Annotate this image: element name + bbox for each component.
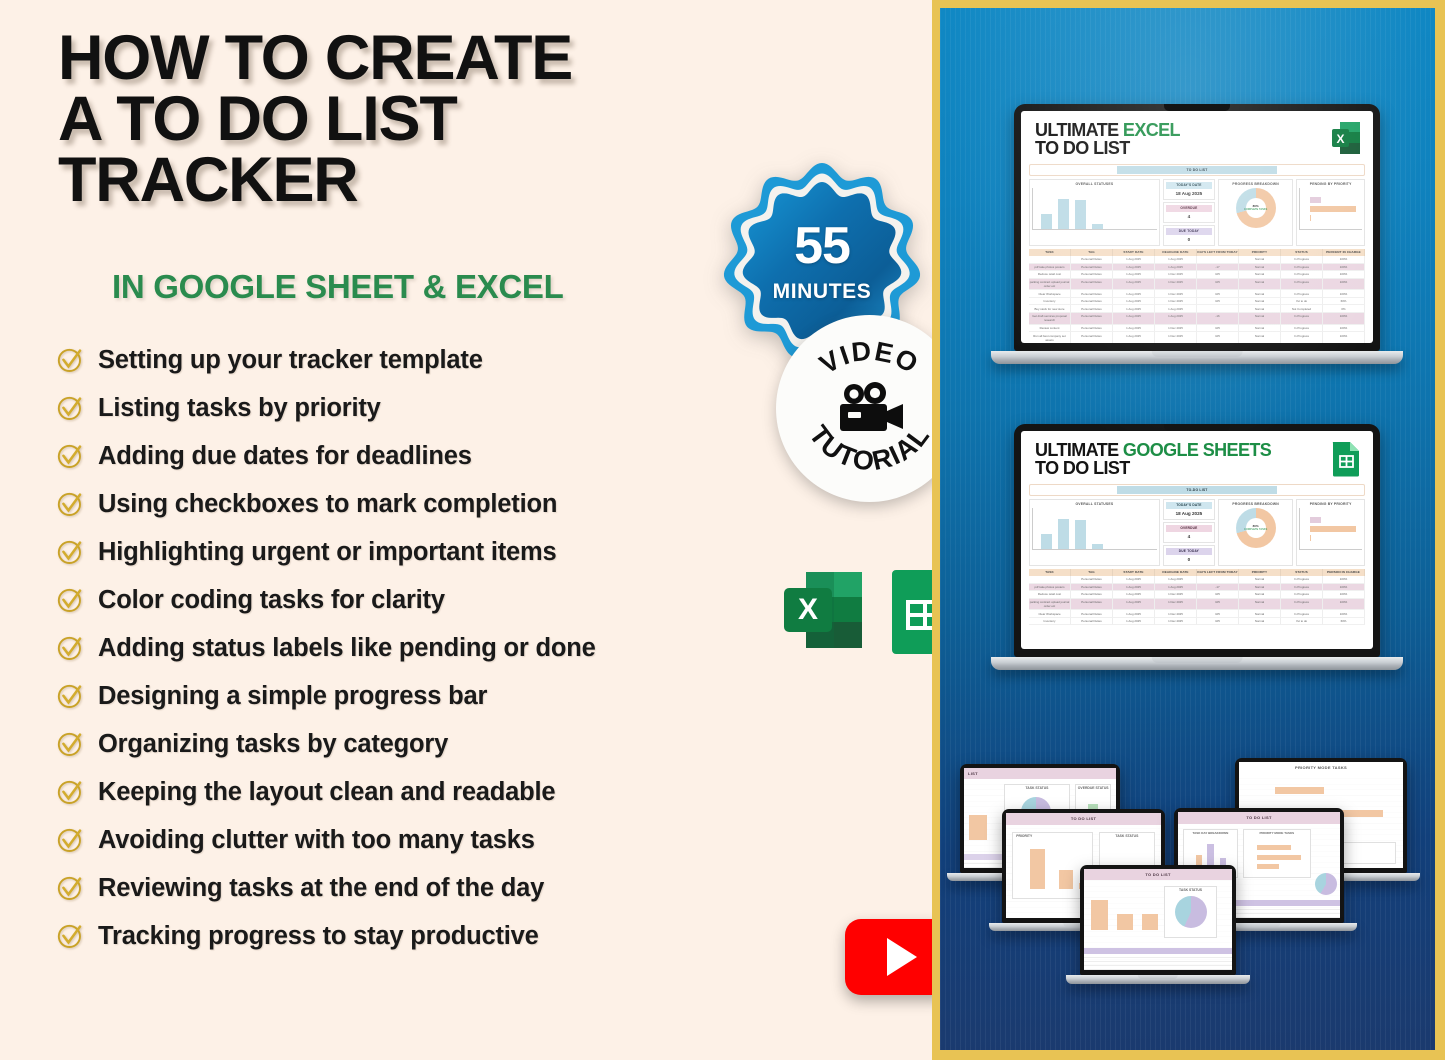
checklist-item-label: Listing tasks by priority [98, 394, 381, 423]
sheet-tab-label: TO-DO LIST [1186, 488, 1207, 492]
table-row: pdf take photos postersPersonal Duties1 … [1029, 264, 1365, 272]
laptop-base-dimple [1152, 351, 1243, 357]
table-cell: Personal Duties [1071, 264, 1113, 272]
table-cell: Yet to do [1281, 618, 1323, 626]
table-cell: pdf take photos posters [1029, 584, 1071, 592]
table-cell: Buy stock for new store [1029, 305, 1071, 313]
laptop-screen: ULTIMATE GOOGLE SHEETS TO DO LIST [1021, 431, 1373, 649]
table-row: InventoryPersonal Duties1 Aug 20251 Dec … [1029, 618, 1365, 626]
bar-chart-statuses [1032, 188, 1157, 230]
card-title: OVERALL STATUSES [1032, 502, 1157, 506]
column-header: DEADLINE DATE [1155, 249, 1197, 256]
kpi-due-today: DUE TODAY 0 [1163, 225, 1215, 246]
sheet-header: LIST [964, 768, 1116, 779]
table-cell: Personal Duties [1071, 279, 1113, 291]
sheet-header: TO DO LIST [1006, 813, 1161, 825]
table-cell: -17 [1197, 264, 1239, 272]
table-cell: Normal [1239, 264, 1281, 272]
card-pending-by-priority: PENDING BY PRIORITY [1296, 179, 1365, 246]
table-cell [1197, 305, 1239, 313]
column-header: DAYS LEFT FROM TODAY [1197, 569, 1239, 576]
sheet-tab-pill: TO DO LIST [1117, 166, 1277, 174]
table-cell: 105 [1197, 325, 1239, 333]
checklist-item-label: Setting up your tracker template [98, 346, 483, 375]
table-cell: Normal [1239, 576, 1281, 584]
checklist-item-label: Designing a simple progress bar [98, 682, 487, 711]
panel-background: ULTIMATE EXCEL TO DO LIST X [940, 8, 1435, 1050]
table-cell: 1 Aug 2025 [1113, 591, 1155, 599]
table-cell: Personal Duties [1071, 271, 1113, 279]
table-cell: 100% [1323, 591, 1365, 599]
column-header: TASK [1029, 569, 1071, 576]
bar [1117, 914, 1133, 930]
laptop-notch [1304, 758, 1338, 762]
kpi-todays-date: TODAY'S DATE 18 Aug 2025 [1163, 179, 1215, 200]
table-cell: Normal [1239, 591, 1281, 599]
table-cell: 1 Aug 2025 [1113, 279, 1155, 291]
table-cell: 1 Dec 2025 [1155, 290, 1197, 298]
laptop-base-dimple [1138, 975, 1178, 979]
checklist-item-label: Tracking progress to stay productive [98, 922, 539, 951]
checklist-item-label: Reviewing tasks at the end of the day [98, 874, 544, 903]
kpi-overdue: OVERDUE 4 [1163, 522, 1215, 543]
laptop-lid: ULTIMATE EXCEL TO DO LIST X [1014, 104, 1380, 351]
donut-center-bottom: COMPLETE TASKS [1244, 208, 1267, 211]
panel-title: OVERDUE STATUS [1076, 785, 1110, 790]
mock-title-prefix: ULTIMATE [1035, 440, 1123, 460]
table-cell: 1 Dec 2025 [1155, 599, 1197, 611]
column-header: TASK [1029, 249, 1071, 256]
table-cell: 1 Aug 2025 [1113, 290, 1155, 298]
checklist-item-label: Keeping the layout clean and readable [98, 778, 555, 807]
sheet-tab-pill: TO-DO LIST [1117, 486, 1277, 494]
table-cell: 100% [1323, 332, 1365, 343]
laptop-notch [1242, 808, 1276, 812]
laptop-mockup-sheets: ULTIMATE GOOGLE SHEETS TO DO LIST [1014, 424, 1380, 670]
table-cell [1029, 256, 1071, 264]
card-title: PENDING BY PRIORITY [1299, 182, 1362, 186]
table-cell: parking contract upload journal order et… [1029, 599, 1071, 611]
table-cell: 1 Aug 2025 [1155, 256, 1197, 264]
table-cell: 1 Dec 2025 [1155, 325, 1197, 333]
card-pending-by-priority: PENDING BY PRIORITY [1296, 499, 1365, 566]
table-cell: Personal Duties [1071, 584, 1113, 592]
kpi-label: TODAY'S DATE [1166, 502, 1212, 509]
table-cell: -17 [1197, 584, 1239, 592]
mock-title-line2: TO DO LIST [1035, 459, 1271, 477]
movie-camera-icon [834, 382, 906, 436]
table-cell: Normal [1239, 618, 1281, 626]
check-circle-icon [56, 634, 84, 662]
mock-title-line2: TO DO LIST [1035, 139, 1180, 157]
kpi-todays-date: TODAY'S DATE 18 Aug 2025 [1163, 499, 1215, 520]
bar [1275, 787, 1324, 794]
bar-chart-priority [1299, 508, 1362, 550]
table-cell: 1 Aug 2025 [1155, 313, 1197, 325]
page-title: HOW TO CREATE A TO DO LIST TRACKER [58, 28, 698, 211]
table-cell: 1 Dec 2025 [1155, 618, 1197, 626]
kpi-due-today: DUE TODAY 0 [1163, 545, 1215, 566]
feature-checklist: Setting up your tracker templateListing … [56, 336, 756, 960]
table-cell: 1 Aug 2025 [1155, 576, 1197, 584]
table-cell: Normal [1239, 332, 1281, 343]
column-header: PRIORITY [1239, 569, 1281, 576]
sheet-tab-label: TO DO LIST [1187, 168, 1208, 172]
table-cell: Normal [1239, 325, 1281, 333]
table-cell: Clear Workspace [1029, 610, 1071, 618]
panel-title: PRIORITY MODE TASKS [1244, 830, 1310, 835]
table-cell: 1 Aug 2025 [1113, 313, 1155, 325]
duration-number: 55 [794, 220, 850, 272]
dashboard-body: TO DO LIST OVERALL STATUSES [1021, 162, 1373, 343]
mock-title: ULTIMATE EXCEL TO DO LIST [1035, 121, 1180, 158]
table-header-row: TASKTAGSTART DATEDEADLINE DATEDAYS LEFT … [1029, 249, 1365, 256]
table-cell: In Progress [1281, 264, 1323, 272]
checklist-item-label: Organizing tasks by category [98, 730, 448, 759]
table-cell: Reduce retail cost [1029, 271, 1071, 279]
table-cell: In Progress [1281, 256, 1323, 264]
table-cell: 1 Aug 2025 [1155, 264, 1197, 272]
pie-chart [1175, 896, 1207, 928]
table-cell: 1 Aug 2025 [1113, 298, 1155, 306]
table-cell: 1 Aug 2025 [1113, 325, 1155, 333]
table-cell: Inventory [1029, 298, 1071, 306]
check-circle-icon [56, 394, 84, 422]
duration-unit: MINUTES [773, 280, 872, 304]
table-row: Reduce retail costPersonal Duties1 Aug 2… [1029, 271, 1365, 279]
table-cell: 1 Aug 2025 [1113, 618, 1155, 626]
table-cell: 1 Aug 2025 [1113, 271, 1155, 279]
table-cell: 105 [1197, 591, 1239, 599]
table-cell: 1 Dec 2025 [1155, 332, 1197, 343]
table-cell: 100% [1323, 599, 1365, 611]
sheet-header-label: TO DO LIST [1071, 816, 1096, 821]
bar [1059, 870, 1073, 890]
table-row: parking contract upload journal order et… [1029, 279, 1365, 291]
sheet-body: TASK STATUS [1084, 880, 1232, 970]
table-row: Review contentPersonal Duties1 Aug 20251… [1029, 325, 1365, 333]
table-cell [1029, 576, 1071, 584]
table-cell: In Progress [1281, 584, 1323, 592]
sheet-header: PRIORITY MODE TASKS [1239, 762, 1403, 774]
table-cell: Personal Duties [1071, 576, 1113, 584]
video-arc-label: VIDEO [814, 336, 924, 380]
checklist-item-label: Avoiding clutter with too many tasks [98, 826, 535, 855]
table-cell: 1 Aug 2025 [1155, 305, 1197, 313]
panel-title: TASK DAY BREAKDOWN [1184, 830, 1237, 835]
column-header: STATUS [1281, 249, 1323, 256]
table-cell: Normal [1239, 305, 1281, 313]
table-cell: 1 Aug 2025 [1113, 305, 1155, 313]
table-cell: 105 [1197, 271, 1239, 279]
column-header: PERSON IN CHARGE [1323, 569, 1365, 576]
table-cell: In Progress [1281, 332, 1323, 343]
poster-canvas: HOW TO CREATE A TO DO LIST TRACKER IN GO… [0, 0, 1445, 1060]
card-title: OVERALL STATUSES [1032, 182, 1157, 186]
bar-chart-priority [1299, 188, 1362, 230]
table-cell: 100% [1323, 264, 1365, 272]
check-circle-icon [56, 826, 84, 854]
table-cell: Normal [1239, 271, 1281, 279]
bar [1030, 849, 1044, 889]
table-cell: 60% [1323, 298, 1365, 306]
sheet-header-label: PRIORITY MODE TASKS [1295, 765, 1347, 770]
card-progress-breakdown: PROGRESS BREAKDOWN 80% COMPLETE TASKS [1218, 179, 1293, 246]
table-cell: Yet to do [1281, 298, 1323, 306]
bar [969, 815, 987, 840]
table-cell: In Progress [1281, 610, 1323, 618]
mock-title-prefix: ULTIMATE [1035, 120, 1123, 140]
table-cell: Clear Workspace [1029, 290, 1071, 298]
headline-line-1: HOW TO CREATE [58, 28, 698, 89]
checklist-item: Keeping the layout clean and readable [56, 768, 756, 816]
checklist-item-label: Color coding tasks for clarity [98, 586, 445, 615]
table-row: Clear WorkspacePersonal Duties1 Aug 2025… [1029, 290, 1365, 298]
table-cell: 1 Dec 2025 [1155, 271, 1197, 279]
mock-header: ULTIMATE GOOGLE SHEETS TO DO LIST [1021, 431, 1373, 482]
laptop-notch [1141, 865, 1175, 869]
table-row: Reduce retail costPersonal Duties1 Aug 2… [1029, 591, 1365, 599]
mock-title-accent: EXCEL [1123, 120, 1180, 140]
table-cell: 60% [1323, 618, 1365, 626]
dashboard-cards-row: OVERALL STATUSES TODAY'S DATE 18 Aug 202… [1029, 179, 1365, 246]
checklist-item: Listing tasks by priority [56, 384, 756, 432]
table-cell: 1 Dec 2025 [1155, 591, 1197, 599]
headline-line-2: A TO DO LIST [58, 89, 698, 150]
kpi-column: TODAY'S DATE 18 Aug 2025 OVERDUE 4 DUE T… [1163, 179, 1215, 246]
donut-chart-wrap: 80% COMPLETE TASKS [1221, 506, 1290, 550]
checklist-item: Using checkboxes to mark completion [56, 480, 756, 528]
column-header: DAYS LEFT FROM TODAY [1197, 249, 1239, 256]
table-row: Get draft services proposal researchPers… [1029, 313, 1365, 325]
checklist-item: Adding due dates for deadlines [56, 432, 756, 480]
table-cell: Personal Duties [1071, 599, 1113, 611]
column-header: START DATE [1113, 569, 1155, 576]
table-cell: 100% [1323, 290, 1365, 298]
table-row: pdf take photos postersPersonal Duties1 … [1029, 584, 1365, 592]
checklist-item: Highlighting urgent or important items [56, 528, 756, 576]
checklist-item: Adding status labels like pending or don… [56, 624, 756, 672]
table-cell: pdf take photos posters [1029, 264, 1071, 272]
table-cell: 105 [1197, 279, 1239, 291]
table-cell: Personal Duties [1071, 591, 1113, 599]
laptop-lid: ULTIMATE GOOGLE SHEETS TO DO LIST [1014, 424, 1380, 657]
bar [1142, 914, 1158, 930]
table-cell: In Progress [1281, 576, 1323, 584]
table-cell: Normal [1239, 584, 1281, 592]
laptop-notch [1164, 104, 1230, 111]
mock-title: ULTIMATE GOOGLE SHEETS TO DO LIST [1035, 441, 1271, 478]
laptop-screen: ULTIMATE EXCEL TO DO LIST X [1021, 111, 1373, 343]
laptop-screen: TO DO LIST TASK STATUS [1084, 869, 1232, 970]
table-cell: Normal [1239, 290, 1281, 298]
sheet-header: TO DO LIST [1084, 869, 1232, 880]
sheet-tab-bar: TO-DO LIST [1029, 484, 1365, 496]
checklist-item: Color coding tasks for clarity [56, 576, 756, 624]
table-cell: Personal Duties [1071, 610, 1113, 618]
bar [1257, 864, 1279, 869]
table-cell: 1 Aug 2025 [1113, 576, 1155, 584]
task-table: TASKTAGSTART DATEDEADLINE DATEDAYS LEFT … [1029, 569, 1365, 626]
mock-header: ULTIMATE EXCEL TO DO LIST X [1021, 111, 1373, 162]
laptop-notch [1023, 764, 1057, 768]
table-cell: 105 [1197, 290, 1239, 298]
table-cell: 105 [1197, 618, 1239, 626]
donut-center-text: 80% COMPLETE TASKS [1236, 188, 1276, 228]
table-cell: Personal Duties [1071, 298, 1113, 306]
table-cell: 1 Aug 2025 [1113, 584, 1155, 592]
column-header: PRIORITY [1239, 249, 1281, 256]
sheet-header: TO DO LIST [1178, 812, 1340, 824]
table-cell: In Progress [1281, 279, 1323, 291]
table-cell: Personal Duties [1071, 332, 1113, 343]
sheet-tab-bar: TO DO LIST [1029, 164, 1365, 176]
table-cell: Review content [1029, 325, 1071, 333]
table-row: Personal Duties1 Aug 20251 Aug 2025Norma… [1029, 576, 1365, 584]
table-cell: 1 Aug 2025 [1113, 599, 1155, 611]
check-circle-icon [56, 346, 84, 374]
checklist-item: Setting up your tracker template [56, 336, 756, 384]
laptop-base [991, 657, 1403, 670]
table-cell: Normal [1239, 313, 1281, 325]
check-circle-icon [56, 538, 84, 566]
laptop-base-dimple [1152, 657, 1243, 663]
bar [1257, 855, 1301, 860]
table-cell: 105 [1197, 332, 1239, 343]
checklist-item-label: Using checkboxes to mark completion [98, 490, 557, 519]
table-cell: 0% [1323, 305, 1365, 313]
laptop-base [991, 351, 1403, 364]
table-cell: Normal [1239, 279, 1281, 291]
column-header: DEADLINE DATE [1155, 569, 1197, 576]
page-subtitle: IN GOOGLE SHEET & EXCEL [112, 268, 564, 306]
table-cell: 100% [1323, 325, 1365, 333]
excel-icon[interactable]: X [776, 562, 872, 658]
check-circle-icon [56, 778, 84, 806]
checklist-item: Reviewing tasks at the end of the day [56, 864, 756, 912]
table-cell: Personal Duties [1071, 290, 1113, 298]
kpi-value: 0 [1166, 555, 1212, 563]
kpi-label: TODAY'S DATE [1166, 182, 1212, 189]
donut-chart-progress: 80% COMPLETE TASKS [1236, 188, 1276, 228]
table-cell: 1 Aug 2025 [1155, 584, 1197, 592]
table-cell: In Progress [1281, 271, 1323, 279]
mock-title-accent: GOOGLE SHEETS [1123, 440, 1271, 460]
svg-text:X: X [1336, 132, 1344, 146]
table-cell [1197, 256, 1239, 264]
column-header: TAG [1071, 249, 1113, 256]
table-cell: Normal [1239, 298, 1281, 306]
play-triangle-icon [887, 938, 917, 976]
bar [1091, 900, 1107, 931]
checklist-item: Tracking progress to stay productive [56, 912, 756, 960]
panel-priority-mode-tasks: PRIORITY MODE TASKS [1243, 829, 1311, 878]
panel-title: TASK STATUS [1005, 785, 1070, 790]
check-circle-icon [56, 490, 84, 518]
column-header: TAG [1071, 569, 1113, 576]
table-cell: 100% [1323, 271, 1365, 279]
kpi-value: 4 [1166, 212, 1212, 220]
table-row [1084, 966, 1232, 970]
table-cell: Normal [1239, 610, 1281, 618]
table-cell: Personal Duties [1071, 313, 1113, 325]
mini-table [1084, 948, 1232, 970]
kpi-label: OVERDUE [1166, 205, 1212, 212]
card-progress-breakdown: PROGRESS BREAKDOWN 80% COMPLETE TASKS [1218, 499, 1293, 566]
table-cell: parking contract upload journal order et… [1029, 279, 1071, 291]
svg-text:X: X [798, 593, 818, 626]
sheet-header-label: TO DO LIST [1145, 872, 1170, 877]
kpi-column: TODAY'S DATE 18 Aug 2025 OVERDUE 4 DUE T… [1163, 499, 1215, 566]
table-cell: 100% [1323, 313, 1365, 325]
table-cell: 1 Aug 2025 [1113, 610, 1155, 618]
checklist-item-label: Highlighting urgent or important items [98, 538, 556, 567]
laptop-notch [1164, 424, 1230, 431]
task-table: TASKTAGSTART DATEDEADLINE DATEDAYS LEFT … [1029, 249, 1365, 343]
table-cell: 105 [1197, 610, 1239, 618]
column-header: STATUS [1281, 569, 1323, 576]
table-cell: Not Completed [1281, 305, 1323, 313]
headline-line-3: TRACKER [58, 150, 698, 211]
card-title: PENDING BY PRIORITY [1299, 502, 1362, 506]
table-row: Run all best company set assetsPersonal … [1029, 332, 1365, 343]
table-cell: 105 [1197, 599, 1239, 611]
table-cell: 1 Dec 2025 [1155, 279, 1197, 291]
table-cell: Personal Duties [1071, 325, 1113, 333]
table-cell: In Progress [1281, 290, 1323, 298]
checklist-item: Organizing tasks by category [56, 720, 756, 768]
donut-chart-progress: 80% COMPLETE TASKS [1236, 508, 1276, 548]
table-cell: Personal Duties [1071, 305, 1113, 313]
panel-task-status: TASK STATUS [1164, 886, 1217, 938]
table-cell: Run all best company set assets [1029, 332, 1071, 343]
dashboard-cards-row: OVERALL STATUSES TODAY'S DATE 18 Aug 202… [1029, 499, 1365, 566]
table-cell: Personal Duties [1071, 618, 1113, 626]
table-cell: In Progress [1281, 599, 1323, 611]
kpi-label: DUE TODAY [1166, 548, 1212, 555]
kpi-overdue: OVERDUE 4 [1163, 202, 1215, 223]
table-cell: Normal [1239, 599, 1281, 611]
kpi-label: OVERDUE [1166, 525, 1212, 532]
kpi-value: 18 Aug 2025 [1166, 509, 1212, 517]
check-circle-icon [56, 730, 84, 758]
table-row: parking contract upload journal order et… [1029, 599, 1365, 611]
kpi-value: 0 [1166, 235, 1212, 243]
laptop-notch [1067, 809, 1101, 813]
excel-icon: X [1331, 121, 1361, 155]
kpi-value: 18 Aug 2025 [1166, 189, 1212, 197]
table-cell: 100% [1323, 256, 1365, 264]
table-cell: -16 [1197, 313, 1239, 325]
check-circle-icon [56, 442, 84, 470]
panel-title: TASK STATUS [1165, 887, 1216, 892]
table-cell: 1 Aug 2025 [1113, 256, 1155, 264]
check-circle-icon [56, 874, 84, 902]
table-row: Personal Duties1 Aug 20251 Aug 2025Norma… [1029, 256, 1365, 264]
table-cell: 1 Aug 2025 [1113, 332, 1155, 343]
google-sheets-icon [1329, 441, 1361, 477]
laptop-mockup-excel: ULTIMATE EXCEL TO DO LIST X [1014, 104, 1380, 364]
panel-title: TASK STATUS [1100, 833, 1154, 838]
table-cell [1197, 576, 1239, 584]
laptop-base [1066, 975, 1250, 984]
check-circle-icon [56, 682, 84, 710]
table-row: Clear WorkspacePersonal Duties1 Aug 2025… [1029, 610, 1365, 618]
product-showcase-panel: ULTIMATE EXCEL TO DO LIST X [932, 0, 1445, 1060]
donut-center-bottom: COMPLETE TASKS [1244, 528, 1267, 531]
table-cell: In Progress [1281, 591, 1323, 599]
pie-chart [1315, 873, 1337, 895]
